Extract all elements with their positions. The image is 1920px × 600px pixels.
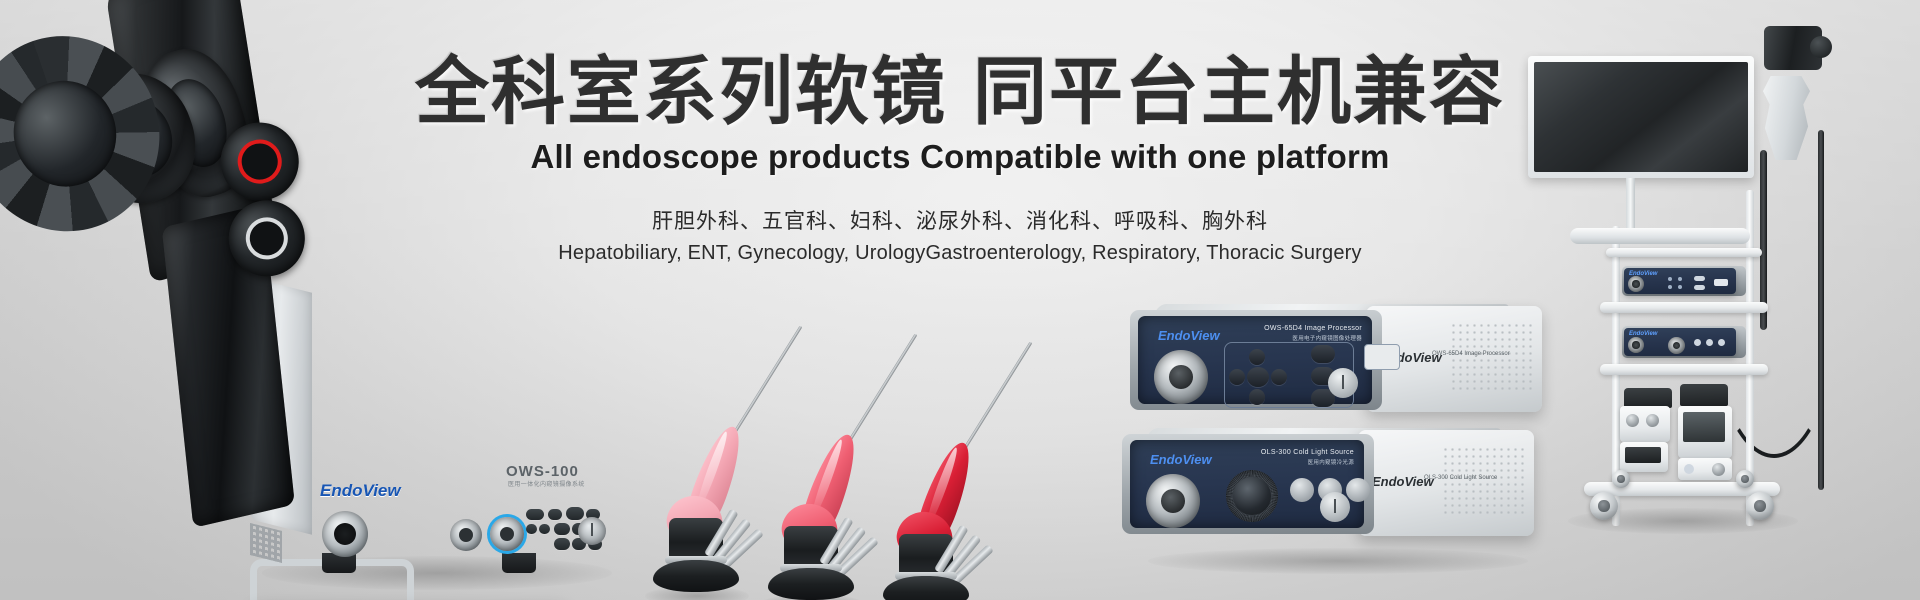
processor-model-label-cn: 医用内窥镜冷光源	[1308, 458, 1354, 466]
processor-model-label-cn: 医用电子内窥镜图像处理器	[1292, 334, 1362, 342]
processor-side-tag: OWS-65D4 Image Processor	[1432, 350, 1510, 358]
cold-light-source-unit: EndoView OLS-300 Cold Light Source EndoV…	[1122, 434, 1552, 546]
knob-icon	[1712, 463, 1725, 476]
promo-banner: OWS-100 医用一体化内窥镜摄像系统 EndoView	[0, 0, 1920, 600]
accessory-module	[1620, 442, 1668, 472]
blue-light-button	[1290, 478, 1314, 502]
cart-shadow	[1568, 508, 1798, 534]
processor-brand-label: EndoView	[1158, 328, 1220, 343]
accessory-top-cover	[1680, 384, 1728, 406]
usb-port-icon	[1364, 344, 1400, 370]
power-button-icon	[1328, 368, 1358, 398]
accessory-display	[1625, 447, 1661, 463]
headline-part-2: 同平台主机兼容	[973, 50, 1505, 133]
knob-icon	[1626, 414, 1639, 427]
list-item	[845, 316, 1025, 566]
light-guide-port-icon	[450, 519, 482, 551]
processor-front-panel: EndoView OLS-300 Cold Light Source 医用内窥镜…	[1130, 440, 1364, 528]
processor-body: EndoView OLS-300 Cold Light Source	[1358, 430, 1534, 536]
scope-socket-icon	[322, 511, 368, 557]
stack-shadow	[1148, 548, 1528, 574]
cart-unit-brand: EndoView	[1629, 331, 1657, 337]
banner-text-block: 全科室系列软镜同平台主机兼容 All endoscope products Co…	[0, 52, 1920, 266]
accessory-top-cover	[1624, 388, 1672, 408]
cart-shelf	[1600, 302, 1768, 313]
departments-list-en: Hepatobiliary, ENT, Gynecology, UrologyG…	[0, 240, 1920, 266]
accessory-display	[1683, 412, 1725, 442]
processor-front-panel: EndoView OWS-65D4 Image Processor 医用电子内窥…	[1138, 316, 1372, 404]
processor-side-tag: OLS-300 Cold Light Source	[1424, 474, 1497, 482]
banner-subtitle: All endoscope products Compatible with o…	[0, 138, 1920, 176]
workstation-model-label-cn: 医用一体化内窥镜摄像系统	[508, 479, 585, 488]
power-button-icon	[578, 517, 606, 545]
instrument-base	[653, 560, 739, 592]
insufflator-unit	[1620, 406, 1670, 442]
light-guide-port-icon	[1146, 474, 1200, 528]
cart-cold-light-source: EndoView	[1624, 328, 1736, 356]
light-guide-port-icon	[1628, 337, 1644, 353]
scope-socket-icon	[1628, 276, 1644, 292]
vent-grille-icon	[250, 523, 282, 563]
power-button-icon	[1320, 492, 1350, 522]
processor-model-label: OLS-300 Cold Light Source	[1261, 449, 1354, 456]
cart-shelf	[1600, 364, 1768, 375]
scope-socket-icon	[1154, 350, 1208, 404]
cart-image-processor: EndoView	[1624, 268, 1736, 294]
video-connector-port-icon	[490, 517, 524, 551]
processor-model-label: OWS-65D4 Image Processor	[1264, 325, 1362, 332]
departments-list-cn: 肝胆外科、五官科、妇科、泌尿外科、消化科、呼吸科、胸外科	[0, 208, 1920, 235]
accessory-base-module	[1678, 458, 1732, 480]
page-title: 全科室系列软镜同平台主机兼容	[0, 52, 1920, 132]
processor-stack: EndoView OWS-65D4 Image Processor EndoVi…	[1130, 310, 1550, 590]
headline-part-1: 全科室系列软镜	[415, 50, 947, 133]
processor-brand-label: EndoView	[1150, 452, 1212, 467]
pump-button	[1346, 478, 1370, 502]
instrument-base	[768, 568, 854, 600]
brightness-dial	[1668, 337, 1685, 354]
caster-wheel-icon	[1612, 470, 1630, 488]
brightness-dial	[1226, 470, 1278, 522]
irrigation-pump-unit	[1678, 406, 1732, 458]
knob-icon	[1646, 414, 1659, 427]
caster-wheel-icon	[1736, 470, 1754, 488]
workstation-foot	[502, 553, 536, 573]
workstation-model-label: OWS-100	[506, 463, 579, 480]
image-processor-unit: EndoView OWS-65D4 Image Processor EndoVi…	[1130, 310, 1550, 422]
